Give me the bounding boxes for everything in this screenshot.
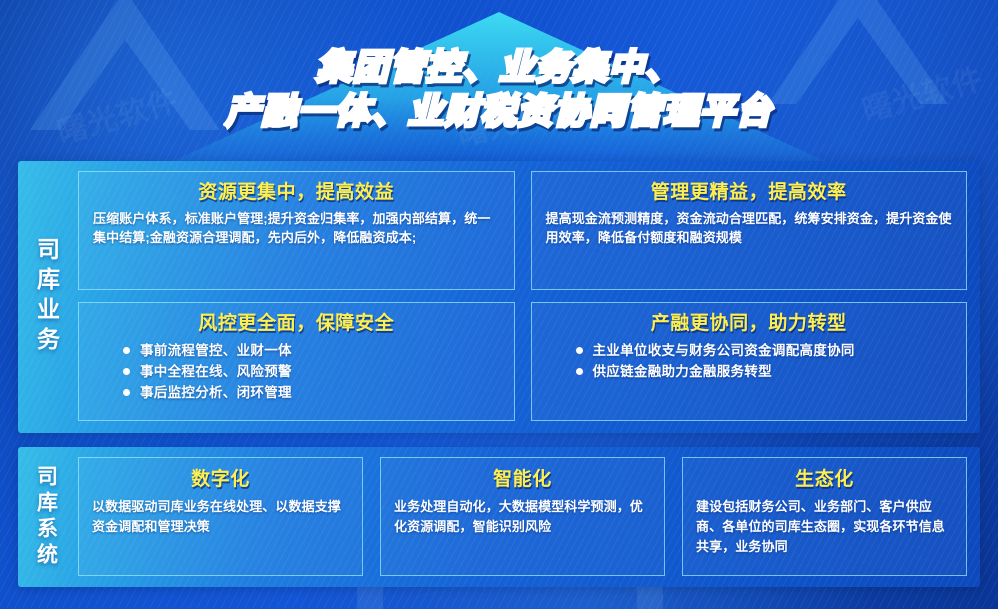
list-item: 事中全程在线、风险预警 <box>123 361 500 382</box>
card-digitalization[interactable]: 数字化 以数据驱动司库业务在线处理、以数据支撑资金调配和管理决策 <box>78 457 363 576</box>
chevron-decoration-right <box>758 0 968 144</box>
section-panel-business: 司库业务 资源更集中，提高效益 压缩账户体系，标准账户管理;提升资金归集率，加强… <box>18 161 980 433</box>
page-title-line-1: 集团管控、业务集中、 <box>316 46 681 90</box>
card-management-efficiency[interactable]: 管理更精益，提高效率 提高现金流预测精度，资金流动合理匹配，统筹安排资金，提升资… <box>531 171 968 290</box>
card-resource-concentration[interactable]: 资源更集中，提高效益 压缩账户体系，标准账户管理;提升资金归集率，加强内部结算，… <box>78 171 515 290</box>
card-body: 提高现金流预测精度，资金流动合理匹配，统筹安排资金，提升资金使用效率，降低备付额… <box>546 209 953 247</box>
card-title: 管理更精益，提高效率 <box>546 180 953 206</box>
card-title: 产融更协同，助力转型 <box>546 311 953 337</box>
card-industry-finance-synergy[interactable]: 产融更协同，助力转型 主业单位收支与财务公司资金调配高度协同 供应链金融助力金融… <box>531 302 968 421</box>
section-label-business-text: 司库业务 <box>35 237 58 357</box>
card-bullet-list: 主业单位收支与财务公司资金调配高度协同 供应链金融助力金融服务转型 <box>546 340 953 382</box>
section-label-system-text: 司库系统 <box>36 465 57 569</box>
list-item: 事后监控分析、闭环管理 <box>123 382 500 403</box>
card-title: 资源更集中，提高效益 <box>93 180 500 206</box>
list-item: 主业单位收支与财务公司资金调配高度协同 <box>576 340 953 361</box>
card-body: 建设包括财务公司、业务部门、客户供应商、各单位的司库生态圈，实现各环节信息共享，… <box>696 497 953 557</box>
business-card-grid: 资源更集中，提高效益 压缩账户体系，标准账户管理;提升资金归集率，加强内部结算，… <box>74 161 980 433</box>
card-title: 数字化 <box>92 467 349 493</box>
watermark: 曙光软件 <box>51 76 182 152</box>
page-title-line-2: 产融一体、业财税资协同管理平台 <box>225 90 773 134</box>
system-card-grid: 数字化 以数据驱动司库业务在线处理、以数据支撑资金调配和管理决策 智能化 业务处… <box>74 447 980 587</box>
card-title: 智能化 <box>394 467 651 493</box>
list-item: 供应链金融助力金融服务转型 <box>576 361 953 382</box>
section-label-business: 司库业务 <box>18 161 74 433</box>
section-label-system: 司库系统 <box>18 447 74 587</box>
card-title: 风控更全面，保障安全 <box>93 311 500 337</box>
card-bullet-list: 事前流程管控、业财一体 事中全程在线、风险预警 事后监控分析、闭环管理 <box>93 340 500 403</box>
list-item: 事前流程管控、业财一体 <box>123 340 500 361</box>
card-title: 生态化 <box>696 467 953 493</box>
card-risk-control[interactable]: 风控更全面，保障安全 事前流程管控、业财一体 事中全程在线、风险预警 事后监控分… <box>78 302 515 421</box>
page-title: 集团管控、业务集中、 产融一体、业财税资协同管理平台 <box>0 46 998 134</box>
section-panel-system: 司库系统 数字化 以数据驱动司库业务在线处理、以数据支撑资金调配和管理决策 智能… <box>18 447 980 587</box>
title-triangle-decoration <box>0 0 998 172</box>
card-body: 压缩账户体系，标准账户管理;提升资金归集率，加强内部结算，统一集中结算;金融资源… <box>93 209 500 247</box>
card-body: 业务处理自动化，大数据模型科学预测，优化资源调配，智能识别风险 <box>394 497 651 537</box>
card-ecosystem[interactable]: 生态化 建设包括财务公司、业务部门、客户供应商、各单位的司库生态圈，实现各环节信… <box>682 457 967 576</box>
card-body: 以数据驱动司库业务在线处理、以数据支撑资金调配和管理决策 <box>92 497 349 537</box>
chevron-decoration-left <box>20 0 250 170</box>
watermark: 曙光软件 <box>451 79 582 155</box>
card-intelligence[interactable]: 智能化 业务处理自动化，大数据模型科学预测，优化资源调配，智能识别风险 <box>380 457 665 576</box>
watermark: 曙光软件 <box>856 54 987 130</box>
slide-canvas: 曙光软件 曙光软件 曙光软件 曙光软件 曙光软件 曙光软件 曙光软件 集团管控、… <box>0 0 998 609</box>
